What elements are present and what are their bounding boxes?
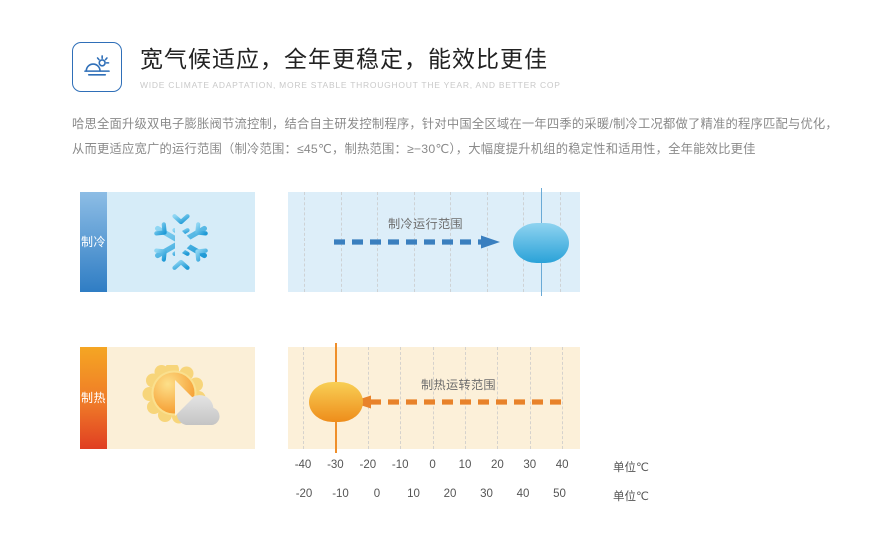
heating-mode-tab: 制热	[80, 347, 107, 449]
description-line-2: 从而更适应宽广的运行范围（制冷范围：≤45℃，制热范围：≥−30℃），大幅度提升…	[72, 137, 832, 162]
description-line-1: 哈思全面升级双电子膨胀阀节流控制，结合自主研发控制程序，针对中国全区域在一年四季…	[72, 112, 832, 137]
axis-tick: -10	[332, 488, 349, 500]
description-paragraph: 哈思全面升级双电子膨胀阀节流控制，结合自主研发控制程序，针对中国全区域在一年四季…	[72, 112, 832, 162]
page-header: 宽气候适应，全年更稳定，能效比更佳 WIDE CLIMATE ADAPTATIO…	[72, 42, 561, 92]
axis-tick: 10	[459, 459, 472, 471]
axis-tick: 50	[553, 488, 566, 500]
axis-tick: 0	[429, 459, 435, 471]
cooling-section: 制冷	[0, 192, 890, 322]
heating-range-label: 制热运转范围	[421, 375, 496, 393]
cooling-axis: -20 -10 0 10 20 30 40 50 单位℃	[288, 488, 658, 506]
axis-tick: 20	[444, 488, 457, 500]
cooling-range-arrow	[334, 235, 502, 249]
page-subtitle: WIDE CLIMATE ADAPTATION, MORE STABLE THR…	[140, 80, 561, 90]
axis-tick: 30	[523, 459, 536, 471]
heating-mode-label: 制热	[81, 390, 106, 407]
cooling-chevron-icon	[175, 192, 197, 292]
cooling-limit-blob	[513, 223, 569, 263]
heating-illustration-panel: 制热	[80, 347, 255, 449]
infographic-page: 宽气候适应，全年更稳定，能效比更佳 WIDE CLIMATE ADAPTATIO…	[0, 0, 890, 550]
page-title: 宽气候适应，全年更稳定，能效比更佳	[140, 44, 561, 74]
axis-tick: 0	[374, 488, 380, 500]
axis-tick: -30	[327, 459, 344, 471]
cooling-mode-tab: 制冷	[80, 192, 107, 292]
axis-tick: -20	[359, 459, 376, 471]
cooling-chart: 制冷运行范围	[288, 192, 580, 292]
axis-tick: -20	[296, 488, 313, 500]
axis-tick: 40	[556, 459, 569, 471]
gridline	[303, 347, 304, 449]
heating-chevron-icon	[175, 347, 197, 449]
cooling-illustration-panel: 制冷	[80, 192, 255, 292]
heating-limit-blob	[309, 382, 363, 422]
heating-chart: 制热运转范围	[288, 347, 580, 449]
axis-tick: -10	[392, 459, 409, 471]
header-text-block: 宽气候适应，全年更稳定，能效比更佳 WIDE CLIMATE ADAPTATIO…	[140, 44, 561, 90]
cooling-range-label: 制冷运行范围	[388, 214, 463, 232]
sun-over-horizon-icon	[72, 42, 122, 92]
heating-section: 制热	[0, 347, 890, 482]
cooling-mode-label: 制冷	[81, 234, 106, 251]
heating-range-arrow	[351, 395, 567, 409]
gridline	[304, 192, 305, 292]
axis-tick: 40	[517, 488, 530, 500]
heating-axis: -40 -30 -20 -10 0 10 20 30 40 单位℃	[288, 459, 658, 477]
cooling-axis-unit: 单位℃	[613, 488, 649, 504]
axis-tick: -40	[295, 459, 312, 471]
axis-tick: 10	[407, 488, 420, 500]
heating-axis-unit: 单位℃	[613, 459, 649, 475]
axis-tick: 20	[491, 459, 504, 471]
axis-tick: 30	[480, 488, 493, 500]
